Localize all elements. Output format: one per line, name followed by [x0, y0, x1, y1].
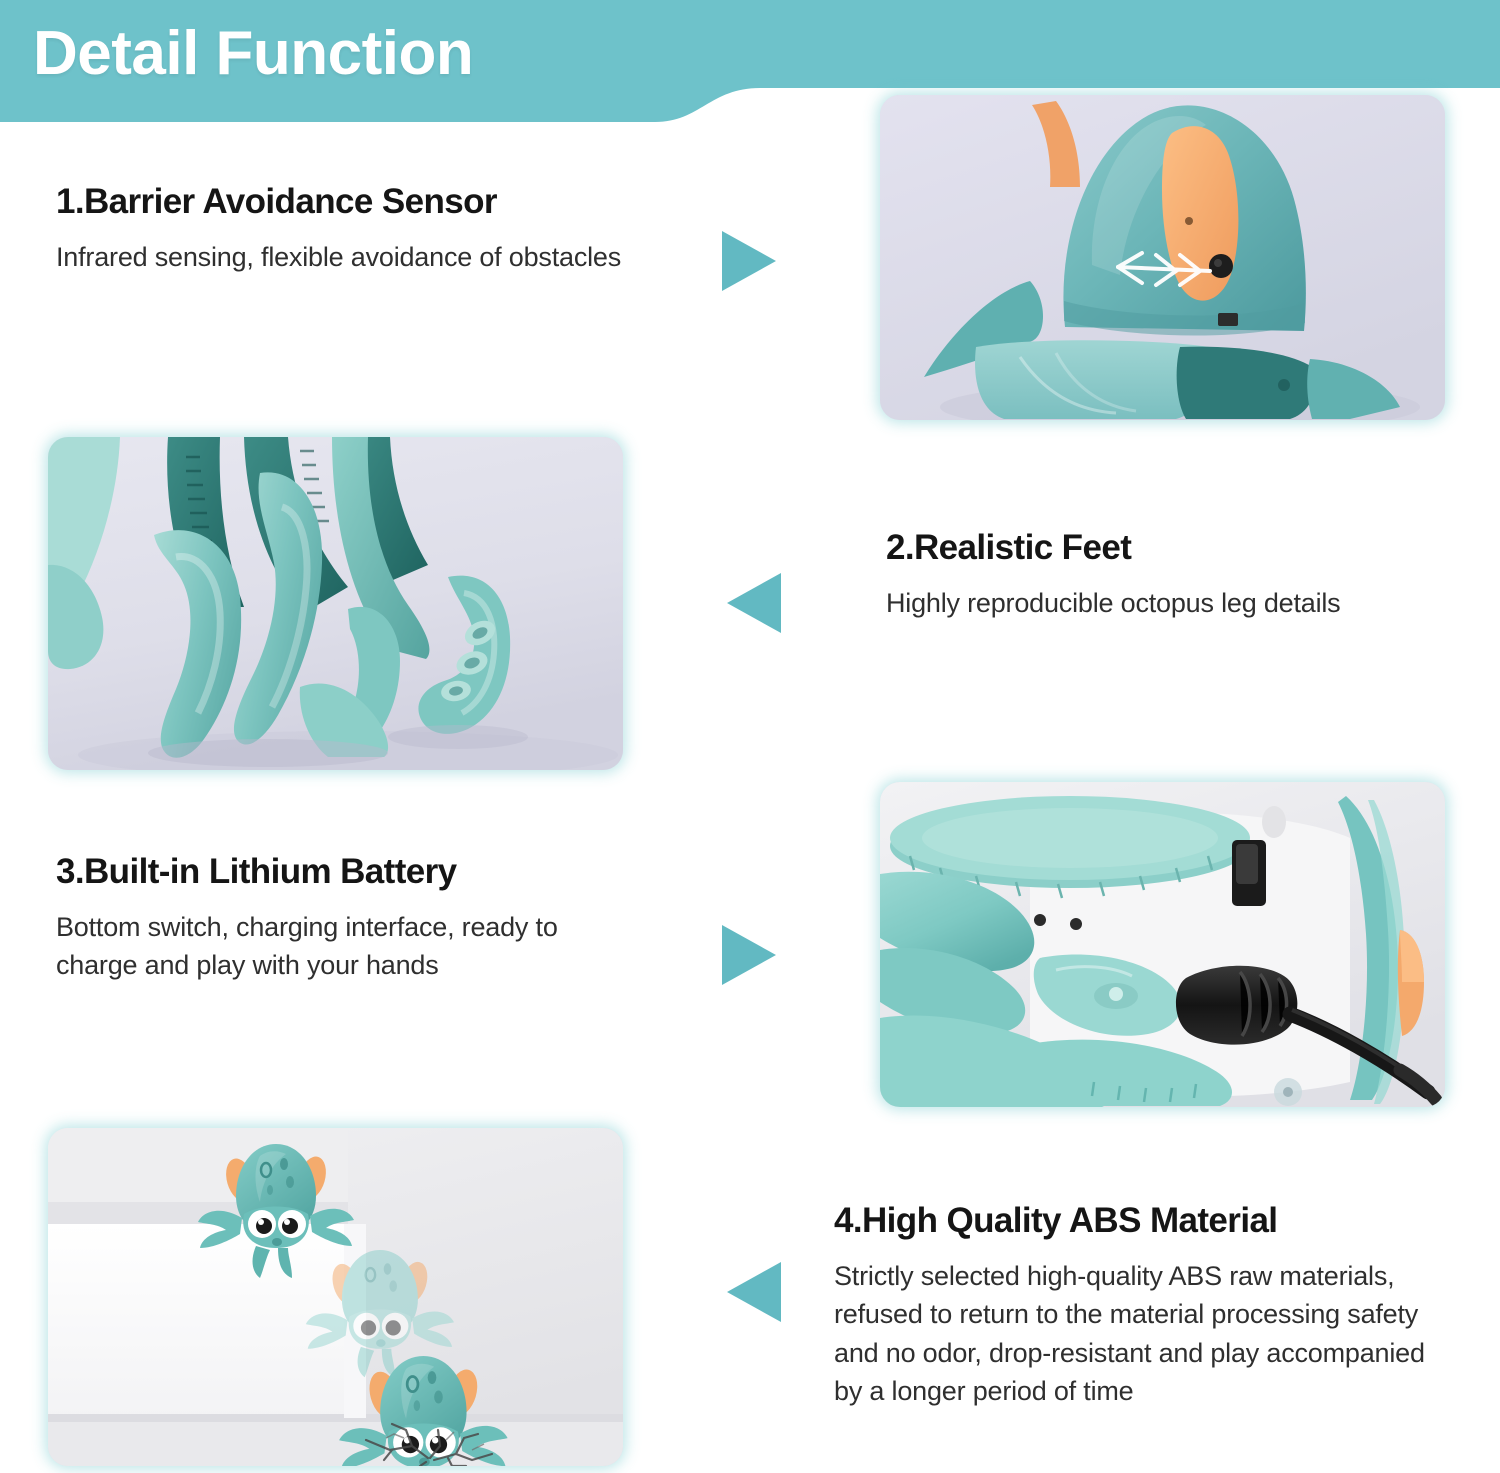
feature-description-2: Highly reproducible octopus leg details [886, 584, 1456, 622]
feature-description-4: Strictly selected high-quality ABS raw m… [834, 1257, 1454, 1410]
octopus-tentacles-photo [48, 437, 623, 770]
tentacles-photo-art [48, 437, 623, 770]
feature-title-2: 2.Realistic Feet [886, 528, 1456, 568]
feature-description-1: Infrared sensing, flexible avoidance of … [56, 238, 656, 276]
drop-test-photo-art [48, 1128, 623, 1466]
page-title: Detail Function [33, 18, 473, 89]
feature-description-3: Bottom switch, charging interface, ready… [56, 908, 616, 985]
feature-block-3: 3.Built-in Lithium Battery Bottom switch… [56, 852, 616, 985]
octopus-head-sensor-photo [880, 95, 1445, 420]
feature-title-1: 1.Barrier Avoidance Sensor [56, 182, 656, 222]
arrow-right-icon [722, 925, 776, 985]
feature-block-1: 1.Barrier Avoidance Sensor Infrared sens… [56, 182, 656, 276]
arrow-right-icon [722, 231, 776, 291]
head-photo-art [880, 95, 1445, 420]
feature-block-4: 4.High Quality ABS Material Strictly sel… [834, 1201, 1454, 1410]
feature-title-4: 4.High Quality ABS Material [834, 1201, 1454, 1241]
arrow-left-icon [727, 1262, 781, 1322]
feature-title-3: 3.Built-in Lithium Battery [56, 852, 616, 892]
feature-block-2: 2.Realistic Feet Highly reproducible oct… [886, 528, 1456, 622]
arrow-left-icon [727, 573, 781, 633]
charging-photo-art [880, 782, 1445, 1107]
octopus-drop-test-photo [48, 1128, 623, 1466]
octopus-charging-port-photo [880, 782, 1445, 1107]
